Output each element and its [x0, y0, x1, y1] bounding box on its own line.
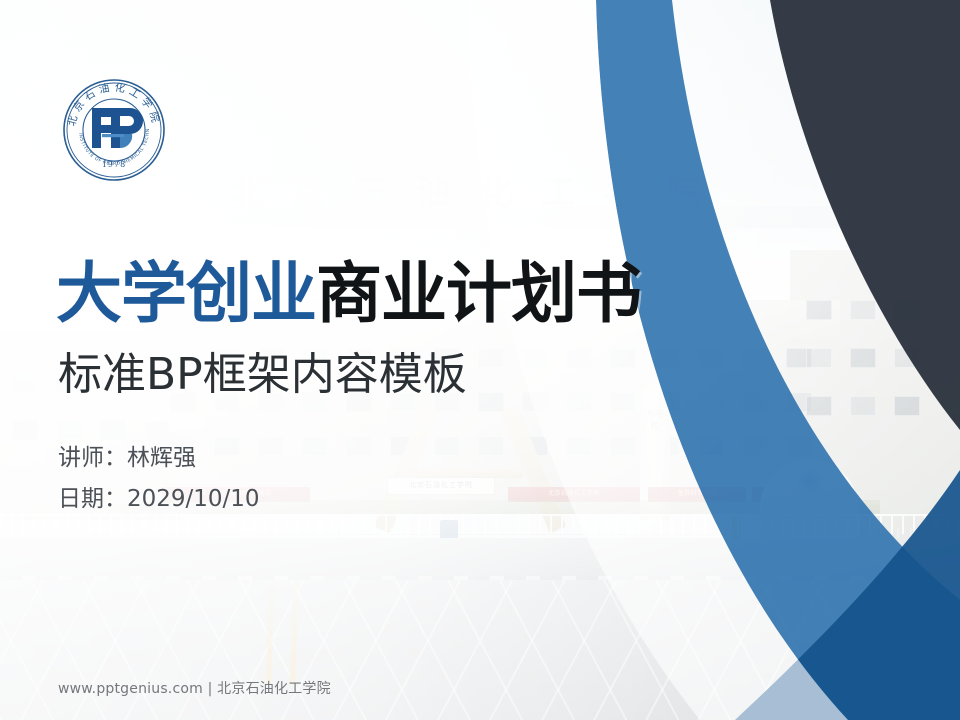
navy-corner-wedge — [770, 0, 960, 430]
date-value: 2029/10/10 — [127, 486, 260, 512]
presenter-row: 讲师：林辉强 — [58, 438, 260, 479]
page-title: 大学创业商业计划书 — [56, 255, 641, 333]
presenter-name: 林辉强 — [127, 445, 196, 471]
logo-year: 1978 — [102, 160, 126, 169]
date-row: 日期：2029/10/10 — [58, 479, 260, 520]
date-label: 日期： — [58, 486, 127, 512]
presentation-meta: 讲师：林辉强 日期：2029/10/10 — [58, 438, 260, 520]
university-logo: 北京石油化工学院 BEIJING INSTITUTE OF PETROCHEMI… — [58, 74, 170, 186]
title-blue-segment: 大学创业 — [56, 255, 316, 332]
page-subtitle: 标准BP框架内容模板 — [58, 348, 467, 402]
title-dark-segment: 商业计划书 — [316, 255, 641, 332]
presenter-label: 讲师： — [58, 445, 127, 471]
footer-credit: www.pptgenius.com | 北京石油化工学院 — [58, 678, 331, 698]
logo-monogram — [92, 108, 143, 148]
presentation-title-slide: 北 京 石 油 化 工 学 院 — [0, 0, 960, 720]
